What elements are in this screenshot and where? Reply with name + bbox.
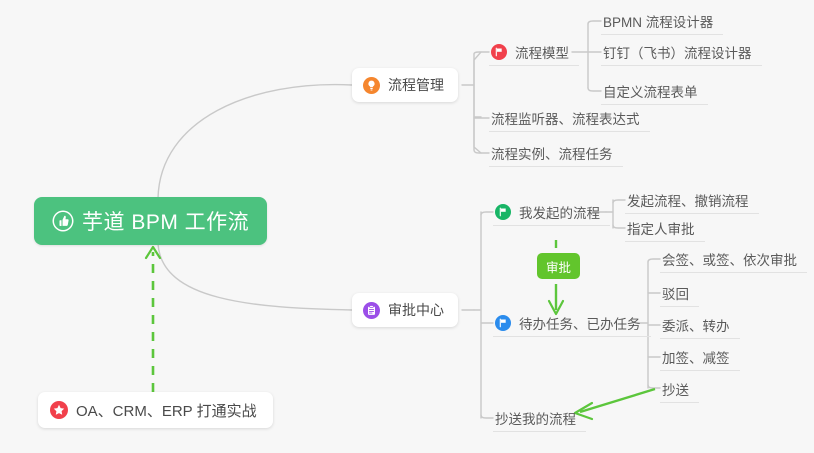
node-add-remove-sign[interactable]: 加签、减签 bbox=[660, 343, 740, 371]
root-node[interactable]: 芋道 BPM 工作流 bbox=[34, 197, 267, 245]
edge-pm-bracket bbox=[474, 52, 481, 153]
node-label: 流程管理 bbox=[388, 75, 444, 95]
edge-todo-to-cc bbox=[648, 385, 660, 388]
node-label: 审批中心 bbox=[388, 300, 444, 320]
node-todo-done-tasks[interactable]: 待办任务、已办任务 bbox=[493, 309, 651, 337]
mindmap-canvas[interactable]: 芋道 BPM 工作流 流程管理 流程模型 BPMN 流程设计器 钉钉（飞书）流程 bbox=[0, 0, 814, 453]
node-approval-center[interactable]: 审批中心 bbox=[352, 293, 458, 327]
edge-todo-to-countersign bbox=[648, 259, 660, 262]
flag-icon bbox=[495, 315, 511, 331]
edge-pm-to-instance bbox=[474, 150, 489, 153]
flag-icon bbox=[491, 44, 507, 60]
edge-initiated-to-assignee bbox=[613, 225, 625, 228]
node-label: 驳回 bbox=[662, 283, 689, 303]
badge-label: 审批 bbox=[546, 257, 571, 276]
edge-model-to-customform bbox=[588, 88, 601, 91]
star-icon bbox=[50, 401, 68, 419]
node-process-listener-expression[interactable]: 流程监听器、流程表达式 bbox=[489, 104, 650, 132]
arrow-integration-to-root bbox=[146, 247, 160, 392]
node-label: 委派、转办 bbox=[662, 315, 730, 335]
node-dingtalk-feishu-designer[interactable]: 钉钉（飞书）流程设计器 bbox=[601, 38, 762, 66]
node-label: 我发起的流程 bbox=[519, 202, 600, 222]
edge-ac-to-initiated bbox=[481, 212, 493, 215]
node-label: 会签、或签、依次审批 bbox=[662, 249, 797, 269]
node-label: 流程实例、流程任务 bbox=[491, 143, 613, 163]
node-label: 钉钉（飞书）流程设计器 bbox=[603, 42, 752, 62]
node-custom-process-form[interactable]: 自定义流程表单 bbox=[601, 77, 708, 105]
node-cc-to-me-process[interactable]: 抄送我的流程 bbox=[493, 404, 586, 432]
root-label: 芋道 BPM 工作流 bbox=[82, 206, 249, 236]
node-process-model[interactable]: 流程模型 bbox=[489, 38, 579, 66]
node-label: 自定义流程表单 bbox=[603, 81, 698, 101]
edge-root-to-approval-center bbox=[158, 244, 352, 310]
node-reject[interactable]: 驳回 bbox=[660, 279, 699, 307]
node-label: 指定人审批 bbox=[627, 218, 695, 238]
lightbulb-icon bbox=[363, 77, 380, 94]
edge-ac-to-cc bbox=[481, 415, 493, 418]
node-label: 待办任务、已办任务 bbox=[519, 313, 641, 333]
edge-model-to-bpmn bbox=[588, 21, 601, 24]
node-label: 抄送 bbox=[662, 379, 689, 399]
node-label: 流程监听器、流程表达式 bbox=[491, 108, 640, 128]
node-integration-note[interactable]: OA、CRM、ERP 打通实战 bbox=[38, 392, 273, 428]
node-process-instance-task[interactable]: 流程实例、流程任务 bbox=[489, 139, 623, 167]
node-delegate-transfer[interactable]: 委派、转办 bbox=[660, 311, 740, 339]
node-assignee-approval[interactable]: 指定人审批 bbox=[625, 214, 705, 242]
node-label: BPMN 流程设计器 bbox=[603, 11, 713, 31]
node-label: 发起流程、撤销流程 bbox=[627, 190, 749, 210]
node-cc[interactable]: 抄送 bbox=[660, 375, 699, 403]
node-process-management[interactable]: 流程管理 bbox=[352, 68, 458, 102]
node-label: OA、CRM、ERP 打通实战 bbox=[76, 400, 257, 421]
flag-icon bbox=[495, 204, 511, 220]
thumbs-up-icon bbox=[52, 210, 74, 232]
edge-root-to-process-management bbox=[158, 85, 352, 198]
edge-initiated-to-start bbox=[613, 200, 625, 203]
edge-pm-to-model bbox=[474, 52, 489, 54]
node-label: 抄送我的流程 bbox=[495, 408, 576, 428]
node-label: 流程模型 bbox=[515, 42, 569, 62]
arrow-cc-to-cc-process bbox=[575, 389, 655, 419]
approval-badge[interactable]: 审批 bbox=[537, 253, 580, 279]
clipboard-icon bbox=[363, 302, 380, 319]
node-label: 加签、减签 bbox=[662, 347, 730, 367]
node-countersign-or-sequential[interactable]: 会签、或签、依次审批 bbox=[660, 245, 807, 273]
node-start-cancel-process[interactable]: 发起流程、撤销流程 bbox=[625, 186, 759, 214]
node-bpmn-designer[interactable]: BPMN 流程设计器 bbox=[601, 7, 723, 35]
node-my-initiated-process[interactable]: 我发起的流程 bbox=[493, 198, 610, 226]
